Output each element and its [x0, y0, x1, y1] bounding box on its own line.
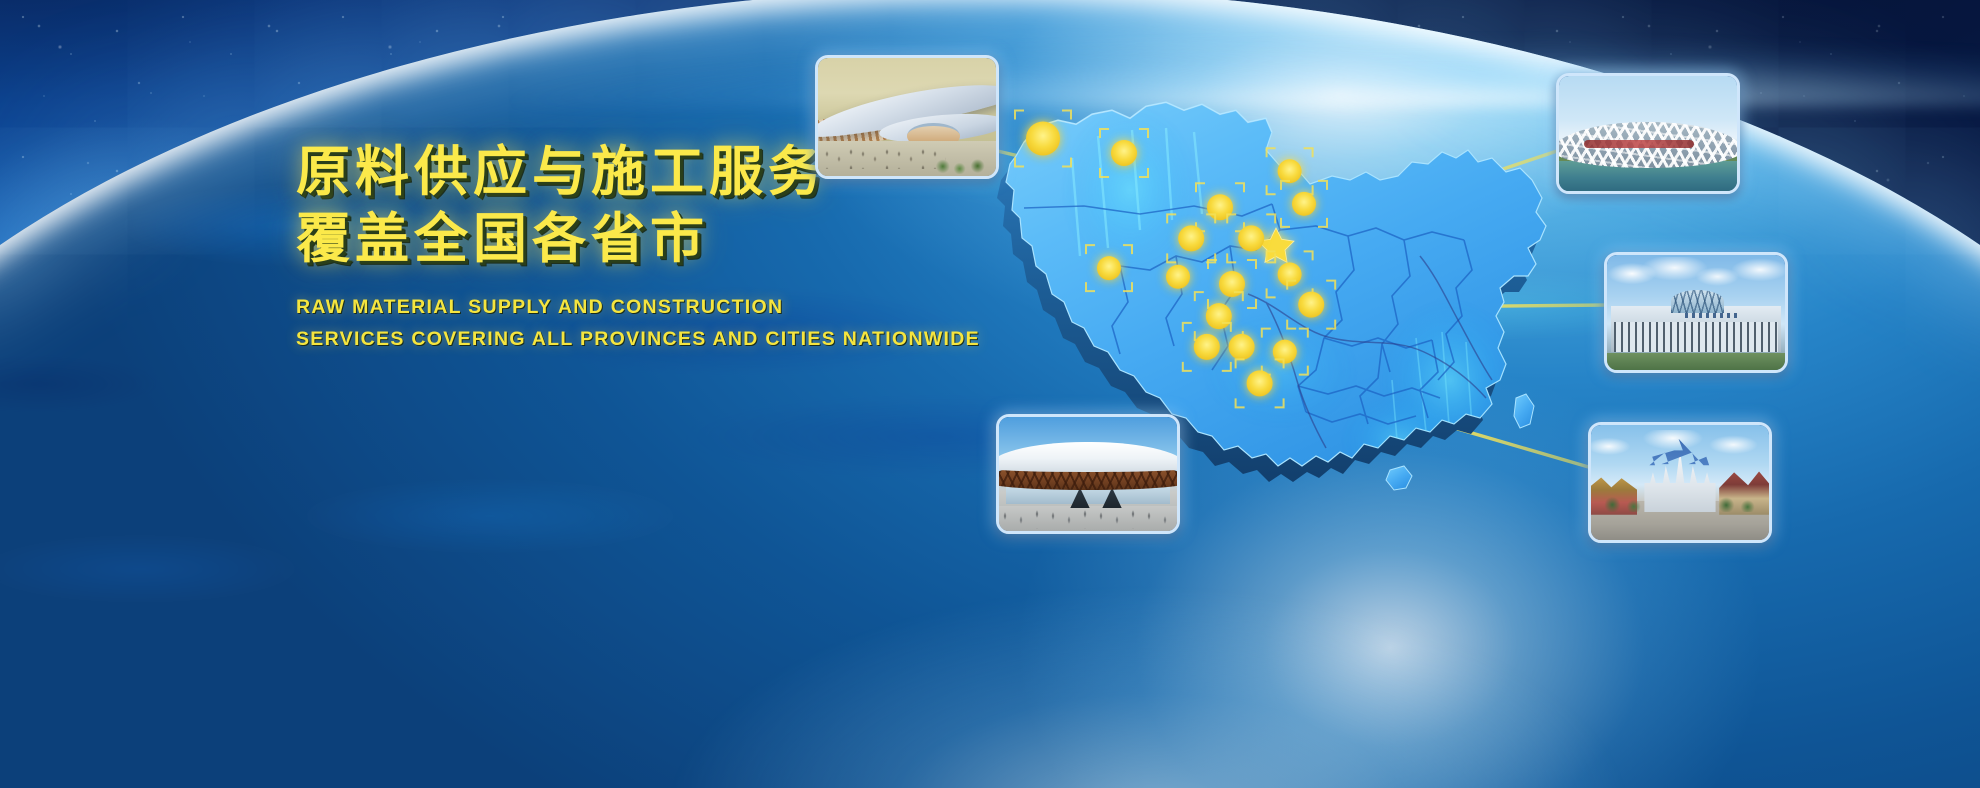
photo-card-birds-nest-stadium[interactable] [1556, 73, 1740, 194]
island-hainan [1386, 466, 1412, 490]
hero-banner: 原料供应与施工服务 覆盖全国各省市 RAW MATERIAL SUPPLY AN… [0, 0, 1980, 788]
photo-card-science-museum[interactable] [1604, 252, 1788, 373]
photo-exhibition-center [818, 58, 996, 176]
map-marker-guizhou[interactable] [1194, 334, 1220, 360]
subtitle-line-2: SERVICES COVERING ALL PROVINCES AND CITI… [296, 324, 1076, 356]
map-marker-shaanxi[interactable] [1238, 225, 1264, 251]
photo-timber-pavilion [999, 417, 1177, 531]
map-marker-qinghai[interactable] [1097, 256, 1121, 280]
photo-card-exhibition-center[interactable] [815, 55, 999, 179]
map-marker-liaoning[interactable] [1292, 192, 1316, 216]
photo-castle-theme-park [1591, 425, 1769, 540]
subtitle-block: RAW MATERIAL SUPPLY AND CONSTRUCTION SER… [296, 292, 1076, 355]
headline-line-2: 覆盖全国各省市 [296, 207, 1076, 270]
subtitle-line-1: RAW MATERIAL SUPPLY AND CONSTRUCTION [296, 292, 1076, 324]
map-marker-jiangsu[interactable] [1298, 292, 1324, 318]
map-marker-north-xinjiang[interactable] [1111, 140, 1137, 166]
photo-card-castle-theme-park[interactable] [1588, 422, 1772, 543]
photo-birds-nest-stadium [1559, 76, 1737, 191]
photo-card-timber-pavilion[interactable] [996, 414, 1180, 534]
map-marker-inner-mongolia[interactable] [1278, 159, 1302, 183]
map-marker-guangdong[interactable] [1247, 370, 1273, 396]
map-marker-hunan[interactable] [1206, 303, 1232, 329]
map-marker-gansu[interactable] [1207, 194, 1233, 220]
map-marker-sichuan[interactable] [1178, 225, 1204, 251]
map-marker-shandong[interactable] [1278, 262, 1302, 286]
photo-science-museum [1607, 255, 1785, 370]
map-marker-chongqing[interactable] [1166, 265, 1190, 289]
map-marker-jiangxi[interactable] [1229, 334, 1255, 360]
island-taiwan [1514, 394, 1534, 428]
